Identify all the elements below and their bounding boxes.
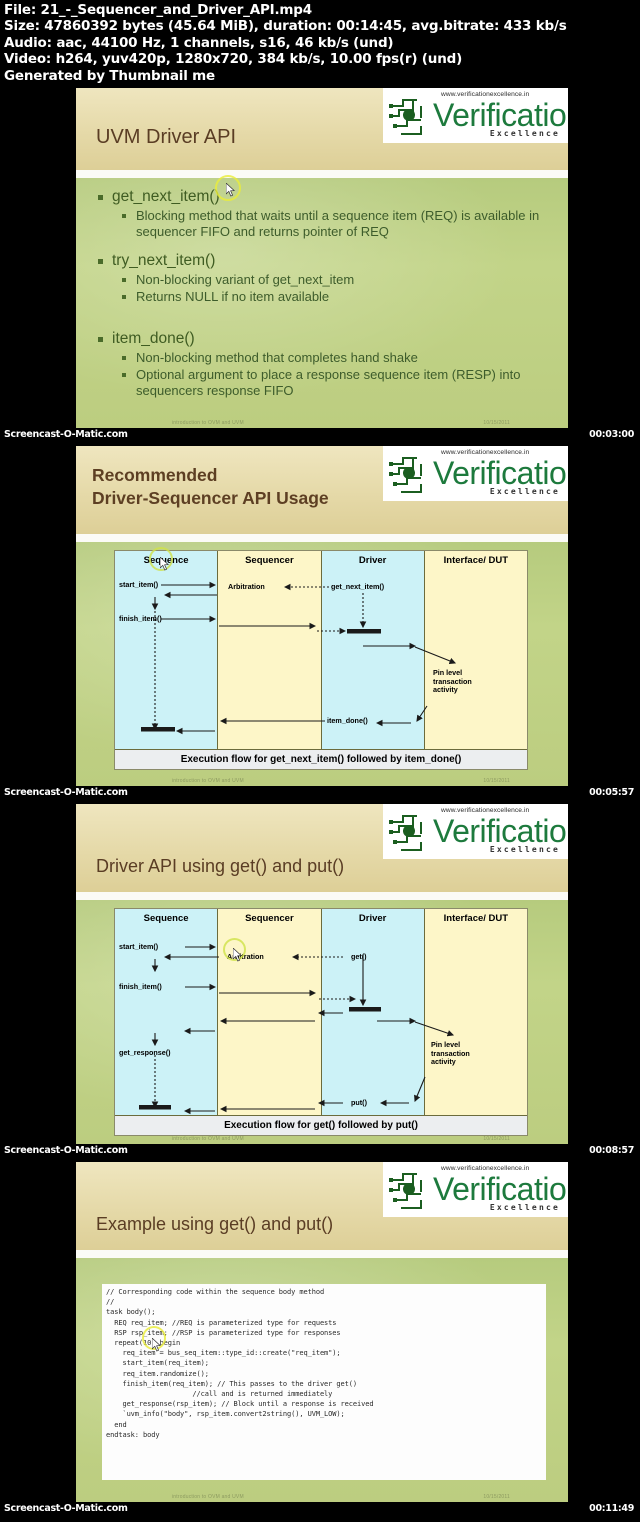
slide2-title: Recommended Driver-Sequencer API Usage	[92, 464, 329, 510]
slide1-footer-right: 10/15/2011	[483, 420, 510, 426]
label-start-item: start_item()	[119, 581, 158, 590]
slide4-footer-right: 10/15/2011	[483, 1494, 510, 1500]
meta-line-audio: Audio: aac, 44100 Hz, 1 channels, s16, 4…	[4, 35, 636, 51]
screencast-strip-1: Screencast-O-Matic.com 00:03:00	[0, 428, 640, 442]
diagram-caption: Execution flow for get() followed by put…	[115, 1115, 527, 1135]
slide3-body: Sequence Sequencer Driver Interface/ DUT	[76, 900, 568, 1144]
label-arbitration: Arbitration	[227, 953, 264, 962]
subbullet-try-next-item-1: Non-blocking variant of get_next_item	[90, 272, 558, 288]
slide1-title: UVM Driver API	[96, 126, 236, 149]
circuit-logo-icon	[387, 454, 433, 496]
diagram-caption: Execution flow for get_next_item() follo…	[115, 749, 527, 769]
slide-thumbnail-3[interactable]: Driver API using get() and put() www.ver…	[76, 804, 568, 1144]
slide2-title-line2: Driver-Sequencer API Usage	[92, 487, 329, 510]
slide-thumbnail-1[interactable]: UVM Driver API www.verificationexcel	[76, 88, 568, 428]
logo-tagline: Excellence	[490, 845, 560, 854]
sequence-diagram-get-put: Sequence Sequencer Driver Interface/ DUT	[114, 908, 528, 1136]
logo-tagline: Excellence	[490, 129, 560, 138]
subbullet-item-done-1: Non-blocking method that completes hand …	[90, 350, 558, 366]
label-pin-level-activity: Pin level transaction activity	[431, 1041, 489, 1067]
circuit-logo-icon	[387, 1170, 433, 1212]
bullet-get-next-item: get_next_item()	[90, 188, 558, 206]
subbullet-get-next-item-1: Blocking method that waits until a seque…	[90, 208, 558, 240]
meta-line-video: Video: h264, yuv420p, 1280x720, 384 kb/s…	[4, 51, 636, 67]
screencast-watermark-1: Screencast-O-Matic.com	[4, 429, 128, 440]
screencast-watermark-4: Screencast-O-Matic.com	[4, 1503, 128, 1514]
screencast-strip-2: Screencast-O-Matic.com 00:05:57	[0, 786, 640, 800]
verification-excellence-logo: www.verificationexcellence.in Verificati…	[383, 1162, 568, 1217]
meta-line-file: File: 21_-_Sequencer_and_Driver_API.mp4	[4, 2, 636, 18]
code-text: // Corresponding code within the sequenc…	[106, 1287, 544, 1440]
label-start-item: start_item()	[119, 943, 158, 952]
slide2-header-band: Recommended Driver-Sequencer API Usage w…	[76, 446, 568, 534]
logo-tagline: Excellence	[490, 487, 560, 496]
timestamp-2: 00:05:57	[589, 787, 634, 798]
screencast-strip-3: Screencast-O-Matic.com 00:08:57	[0, 1144, 640, 1158]
slide4-title: Example using get() and put()	[96, 1214, 333, 1235]
label-item-done: item_done()	[327, 717, 368, 726]
thumbnail-sheet: File: 21_-_Sequencer_and_Driver_API.mp4 …	[0, 0, 640, 1522]
label-finish-item: finish_item()	[119, 615, 162, 624]
slide1-footer-left: introduction to OVM and UVM	[172, 420, 244, 426]
slide4-body: // Corresponding code within the sequenc…	[76, 1258, 568, 1502]
screencast-watermark-3: Screencast-O-Matic.com	[4, 1145, 128, 1156]
video-metadata-header: File: 21_-_Sequencer_and_Driver_API.mp4 …	[0, 0, 640, 88]
timestamp-4: 00:11:49	[589, 1503, 634, 1514]
verification-excellence-logo: www.verificationexcellence.in Verificati…	[383, 804, 568, 859]
label-get: get()	[351, 953, 367, 962]
screencast-strip-4: Screencast-O-Matic.com 00:11:49	[0, 1502, 640, 1516]
slide3-title: Driver API using get() and put()	[96, 856, 344, 877]
verification-excellence-logo: www.verificationexcellence.in Verificati…	[383, 446, 568, 501]
meta-line-size: Size: 47860392 bytes (45.64 MiB), durati…	[4, 18, 636, 34]
timestamp-3: 00:08:57	[589, 1145, 634, 1156]
label-get-response: get_response()	[119, 1049, 171, 1058]
slide2-body: Sequence Sequencer Driver Interface/ DUT	[76, 542, 568, 786]
sequence-diagram-get-next-item: Sequence Sequencer Driver Interface/ DUT	[114, 550, 528, 770]
subbullet-item-done-2: Optional argument to place a response se…	[90, 367, 558, 399]
slide4-footer-left: introduction to OVM and UVM	[172, 1494, 244, 1500]
slide4-header-band: Example using get() and put() www.verifi…	[76, 1162, 568, 1250]
label-arbitration: Arbitration	[228, 583, 265, 592]
slide3-divider	[76, 892, 568, 900]
logo-tagline: Excellence	[490, 1203, 560, 1212]
meta-line-generator: Generated by Thumbnail me	[4, 68, 636, 84]
slide1-header-band: UVM Driver API www.verificationexcel	[76, 88, 568, 170]
timestamp-1: 00:03:00	[589, 429, 634, 440]
bullet-try-next-item: try_next_item()	[90, 252, 558, 270]
slide2-footer-left: introduction to OVM and UVM	[172, 778, 244, 784]
label-put: put()	[351, 1099, 367, 1108]
slide4-divider	[76, 1250, 568, 1258]
label-finish-item: finish_item()	[119, 983, 162, 992]
slide3-header-band: Driver API using get() and put() www.ver…	[76, 804, 568, 892]
diagram-arrows	[115, 551, 529, 751]
screencast-watermark-2: Screencast-O-Matic.com	[4, 787, 128, 798]
code-block: // Corresponding code within the sequenc…	[102, 1284, 546, 1480]
subbullet-try-next-item-2: Returns NULL if no item available	[90, 289, 558, 305]
slide1-body: get_next_item() Blocking method that wai…	[76, 178, 568, 428]
diagram-arrows	[115, 909, 529, 1117]
slide3-footer-left: introduction to OVM and UVM	[172, 1136, 244, 1142]
verification-excellence-logo: www.verificationexcellence.in Verificati…	[383, 88, 568, 143]
slide2-title-line1: Recommended	[92, 464, 329, 487]
bullet-item-done: item_done()	[90, 330, 558, 348]
slide-thumbnail-2[interactable]: Recommended Driver-Sequencer API Usage w…	[76, 446, 568, 786]
slide-thumbnail-4[interactable]: Example using get() and put() www.verifi…	[76, 1162, 568, 1502]
slide2-footer-right: 10/15/2011	[483, 778, 510, 784]
label-pin-level-activity: Pin level transaction activity	[433, 669, 491, 695]
slide2-divider	[76, 534, 568, 542]
circuit-logo-icon	[387, 96, 433, 138]
slide1-divider	[76, 170, 568, 178]
label-get-next-item: get_next_item()	[331, 583, 384, 592]
slide3-footer-right: 10/15/2011	[483, 1136, 510, 1142]
circuit-logo-icon	[387, 812, 433, 854]
